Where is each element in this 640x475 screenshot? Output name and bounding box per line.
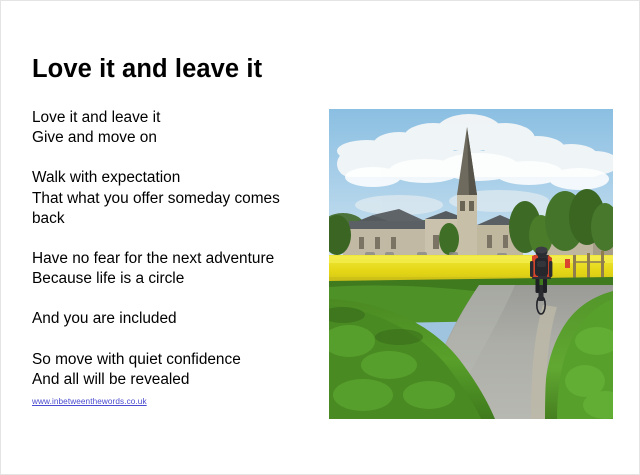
poem-stanza: So move with quiet confidence And all wi…: [32, 350, 310, 390]
poem-line: Walk with expectation: [32, 168, 310, 188]
poem-stanza: And you are included: [32, 309, 310, 329]
poem-stanza: Love it and leave it Give and move on: [32, 108, 310, 148]
poem-line: Because life is a circle: [32, 269, 310, 289]
poem-stanza: Have no fear for the next adventure Beca…: [32, 249, 310, 289]
poem-line: Have no fear for the next adventure: [32, 249, 310, 269]
poem-line: So move with quiet confidence: [32, 350, 310, 370]
photo-artwork: [329, 109, 613, 419]
landscape-photo: [329, 109, 613, 419]
poem-line: Give and move on: [32, 128, 310, 148]
poem-line: That what you offer someday comes back: [32, 189, 310, 229]
page-title: Love it and leave it: [32, 54, 262, 84]
slide-canvas: Love it and leave it Love it and leave i…: [0, 0, 640, 475]
poem-line: And you are included: [32, 309, 310, 329]
poem-line: And all will be revealed: [32, 370, 310, 390]
poem-line: Love it and leave it: [32, 108, 310, 128]
poem-body: Love it and leave it Give and move on Wa…: [32, 108, 310, 390]
poem-stanza: Walk with expectation That what you offe…: [32, 168, 310, 229]
website-link[interactable]: www.inbetweenthewords.co.uk: [32, 396, 147, 407]
